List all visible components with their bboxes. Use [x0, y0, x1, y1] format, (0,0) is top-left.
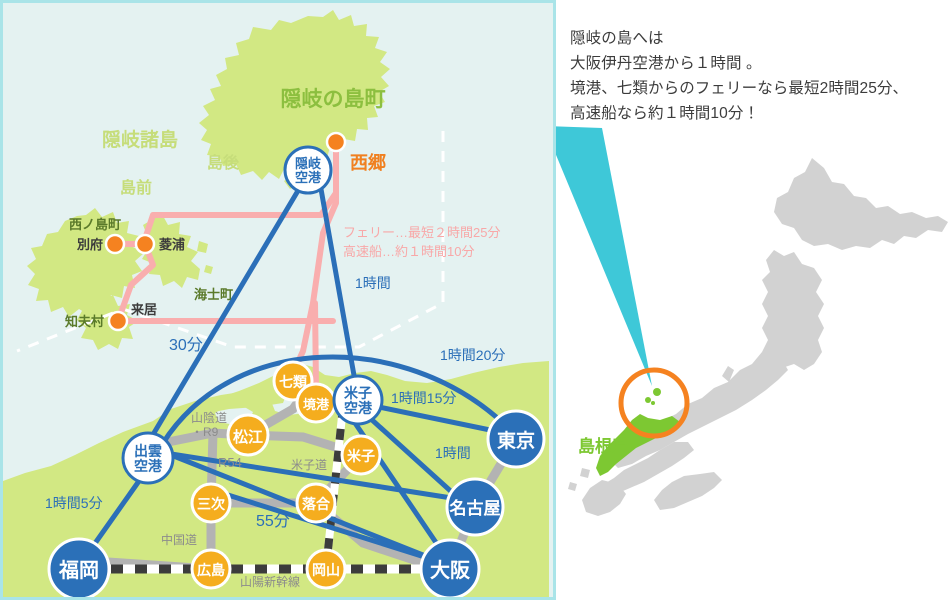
port-node-saigo[interactable]: [327, 133, 345, 151]
region-label-oki-islands: 隠岐諸島: [102, 128, 178, 151]
node-osaka[interactable]: 大阪: [421, 540, 479, 597]
node-miyoshi[interactable]: 三次: [192, 484, 230, 522]
port-label-saigo: 西郷: [350, 152, 386, 173]
node-label-miyoshi: 三次: [197, 496, 226, 512]
node-label-fukuoka: 福岡: [58, 559, 99, 582]
road-label-sanin-1: 山陰道: [191, 411, 227, 425]
node-label-yonago-airport-l1: 米子: [344, 385, 372, 401]
road-label-yonago-road: 米子道: [291, 458, 327, 472]
port-label-hishiura: 菱浦: [159, 237, 185, 252]
node-yonago-airport[interactable]: 米子 空港: [334, 376, 382, 424]
ferry-note-line2: 高速船…約１時間10分: [343, 244, 474, 259]
node-nagoya[interactable]: 名古屋: [447, 479, 503, 535]
japan-locator-map: 島根県: [556, 120, 950, 520]
japan-shikoku: [654, 472, 722, 510]
node-label-izumo-airport-l2: 空港: [134, 458, 163, 474]
ferry-note-line1: フェリー…最短２時間25分: [343, 225, 500, 240]
ferry-saigo-sakai: [315, 303, 316, 387]
access-map-panel: 隠岐の島町 隠岐諸島 島後 島前 西ノ島町 海士町 知夫村 西郷 別府 菱浦: [0, 0, 556, 600]
port-label-beppu: 別府: [76, 237, 103, 252]
oki-dot-3: [651, 401, 655, 405]
time-label-izumo-nagoya: 1時間: [435, 445, 471, 461]
town-label-ama: 海士町: [194, 287, 233, 302]
region-label-dozen: 島前: [120, 178, 152, 197]
japan-islet-west-2: [568, 482, 577, 491]
node-label-hiroshima: 広島: [197, 562, 225, 578]
road-label-sanyo-shinkansen: 山陽新幹線: [240, 574, 300, 589]
intro-paragraph: 隠岐の島へは 大阪伊丹空港から１時間 。 境港、七類からのフェリーなら最短2時間…: [570, 26, 950, 126]
node-label-osaka: 大阪: [430, 559, 471, 582]
time-label-yonago-tokyo: 1時間15分: [391, 390, 456, 406]
time-label-miyoshi-osaka: 55分: [256, 512, 290, 530]
node-hiroshima[interactable]: 広島: [192, 550, 230, 588]
oki-dot-1: [653, 388, 661, 396]
node-fukuoka[interactable]: 福岡: [49, 539, 109, 597]
islet-2: [204, 265, 213, 274]
node-matsue[interactable]: 松江: [228, 415, 268, 455]
node-label-yonago: 米子: [347, 448, 375, 464]
port-node-kurii[interactable]: [109, 312, 127, 330]
node-label-yonago-airport-l2: 空港: [344, 400, 373, 416]
japan-hokkaido: [774, 158, 948, 250]
node-label-oki-airport-l2: 空港: [295, 170, 322, 185]
node-tokyo[interactable]: 東京: [488, 411, 544, 467]
road-label-chugoku: 中国道: [161, 532, 197, 547]
japan-honshu-north: [762, 250, 824, 370]
node-label-ochiai: 落合: [302, 496, 331, 512]
road-label-r54: R54: [218, 455, 242, 470]
node-okayama[interactable]: 岡山: [307, 550, 345, 588]
node-label-oki-airport-l1: 隠岐: [295, 156, 322, 171]
access-map-svg: 隠岐の島町 隠岐諸島 島後 島前 西ノ島町 海士町 知夫村 西郷 別府 菱浦: [3, 3, 553, 597]
right-column: 隠岐の島へは 大阪伊丹空港から１時間 。 境港、七類からのフェリーなら最短2時間…: [556, 0, 950, 600]
node-label-nagoya: 名古屋: [449, 498, 501, 518]
town-label-nishinoshima: 西ノ島町: [69, 217, 121, 232]
ferry-note-group: フェリー…最短２時間25分 高速船…約１時間10分: [343, 225, 500, 259]
node-yonago[interactable]: 米子: [342, 436, 380, 474]
time-label-izumo-fukuoka: 1時間5分: [45, 495, 103, 511]
air-oki-yonago: [321, 189, 355, 381]
town-label-chibu: 知夫村: [65, 314, 104, 329]
time-label-oki-yonago: 1時間: [355, 275, 391, 291]
region-label-okinoshima-town: 隠岐の島町: [281, 87, 386, 111]
shimane-prefecture-label: 島根県: [578, 436, 629, 456]
node-label-sakaiminato: 境港: [303, 397, 330, 412]
node-label-matsue: 松江: [233, 428, 263, 446]
node-label-okayama: 岡山: [312, 562, 340, 578]
node-label-tokyo: 東京: [497, 429, 535, 452]
time-label-oki-izumo: 30分: [169, 336, 203, 354]
node-sakaiminato[interactable]: 境港: [297, 384, 335, 422]
road-label-sanin-2: ・R9: [191, 425, 219, 439]
port-node-hishiura[interactable]: [136, 235, 154, 253]
islet-1: [197, 241, 208, 253]
time-label-izumo-tokyo: 1時間20分: [440, 347, 505, 363]
node-ochiai[interactable]: 落合: [297, 484, 335, 522]
port-node-beppu[interactable]: [106, 235, 124, 253]
port-label-kurii: 来居: [130, 302, 157, 317]
japan-map-svg: 島根県: [556, 120, 950, 520]
node-izumo-airport[interactable]: 出雲 空港: [123, 433, 173, 483]
node-oki-airport[interactable]: 隠岐 空港: [285, 147, 331, 193]
locator-pointer-wedge: [556, 126, 652, 386]
oki-dot-2: [645, 397, 651, 403]
japan-islet-west-1: [580, 468, 590, 478]
region-label-dogo: 島後: [207, 153, 240, 172]
japan-honshu-central: [610, 352, 788, 468]
node-label-izumo-airport-l1: 出雲: [134, 443, 162, 459]
